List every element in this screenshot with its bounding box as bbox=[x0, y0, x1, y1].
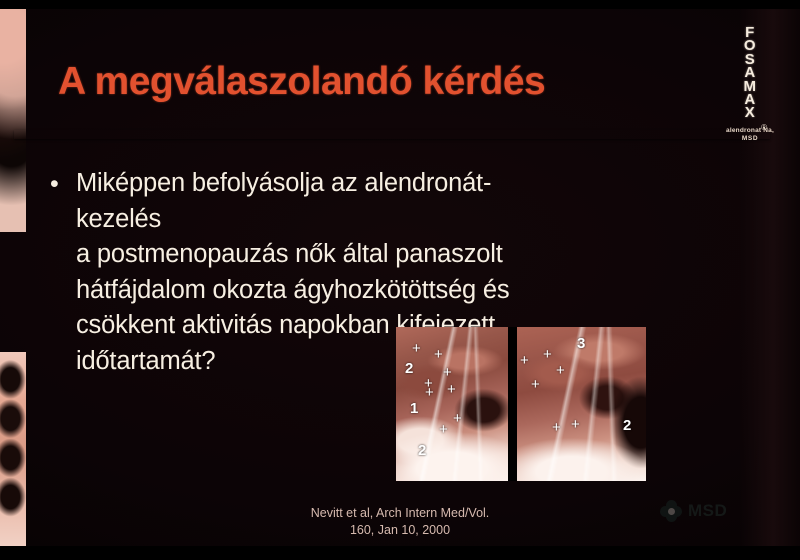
msd-logo: MSD bbox=[660, 500, 727, 522]
xray-panel-left: ++++++++212 bbox=[396, 327, 508, 481]
xray-panel-right: ++++++32 bbox=[517, 327, 646, 481]
bullet-line-2: kezelés bbox=[76, 202, 646, 238]
film-edge-bottom bbox=[0, 546, 800, 560]
xray-crosshair-marker: + bbox=[439, 424, 448, 436]
title-divider-bar bbox=[14, 130, 770, 139]
slide-title: A megválaszolandó kérdés bbox=[58, 60, 545, 104]
xray-vertebra-label: 2 bbox=[418, 445, 426, 457]
xray-crosshair-marker: + bbox=[425, 387, 434, 399]
fosamax-generic-name: alendronat Na, bbox=[724, 127, 776, 135]
xray-crosshair-marker: + bbox=[531, 379, 540, 391]
xray-crosshair-marker: + bbox=[520, 355, 529, 367]
xray-crosshair-marker: + bbox=[556, 365, 565, 377]
msd-wordmark: MSD bbox=[688, 501, 727, 521]
presentation-slide: A megválaszolandó kérdés • Miképpen befo… bbox=[0, 0, 800, 560]
citation-line-2: 160, Jan 10, 2000 bbox=[0, 522, 800, 539]
fosamax-wordmark: F O S A M A X bbox=[724, 26, 776, 120]
xray-crosshair-marker: + bbox=[434, 349, 443, 361]
xray-crosshair-marker: + bbox=[443, 367, 452, 379]
xray-crosshair-marker: + bbox=[543, 349, 552, 361]
adjacent-slide-image-top bbox=[0, 8, 26, 232]
xray-vertebra-label: 3 bbox=[577, 338, 585, 350]
bullet-line-3: a postmenopauzás nők által panaszolt bbox=[76, 237, 646, 273]
xray-crosshair-marker: + bbox=[447, 384, 456, 396]
bullet-line-1: Miképpen befolyásolja az alendronát- bbox=[76, 166, 646, 202]
fosamax-sublabel: alendronat Na, MSD bbox=[724, 127, 776, 143]
msd-cloverleaf-icon bbox=[660, 500, 682, 522]
film-edge-top bbox=[0, 0, 800, 9]
registered-trademark-icon: ® bbox=[761, 123, 767, 132]
xray-crosshair-marker: + bbox=[412, 343, 421, 355]
fosamax-company-name: MSD bbox=[724, 135, 776, 143]
xray-crosshair-marker: + bbox=[552, 422, 561, 434]
fosamax-logo: F O S A M A X ® alendronat Na, MSD bbox=[724, 26, 776, 143]
xray-crosshair-marker: + bbox=[571, 419, 580, 431]
bullet-line-4: hátfájdalom okozta ágyhozkötöttség és bbox=[76, 273, 646, 309]
xray-vertebra-label: 1 bbox=[410, 403, 418, 415]
xray-vertebra-label: 2 bbox=[623, 420, 631, 432]
xray-vertebra-label: 2 bbox=[405, 363, 413, 375]
adjacent-slide-strip-top bbox=[0, 8, 26, 232]
xray-crosshair-marker: + bbox=[453, 413, 462, 425]
spine-xray-figure: ++++++++212 ++++++32 bbox=[396, 327, 646, 481]
bullet-marker: • bbox=[46, 166, 76, 202]
